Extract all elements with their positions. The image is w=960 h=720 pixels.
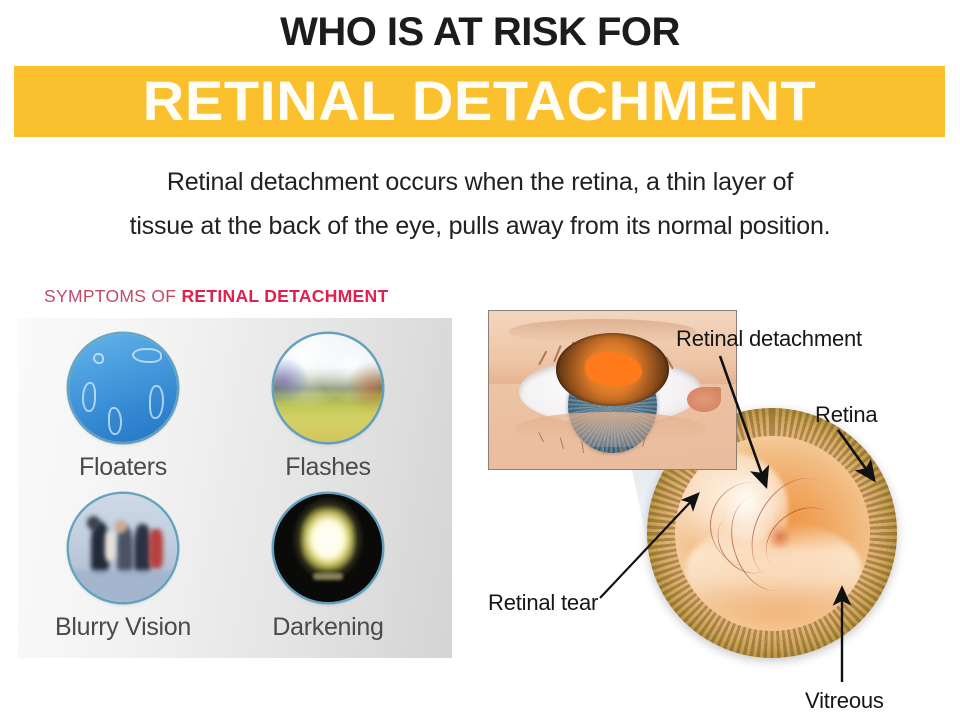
subtitle-paragraph: Retinal detachment occurs when the retin… [60,160,900,248]
symptom-label: Darkening [233,613,423,642]
subtitle-line-1: Retinal detachment occurs when the retin… [60,160,900,204]
symptom-label: Flashes [233,453,423,482]
symptom-item-darkening: Darkening [233,494,423,642]
landscape-glare-flashes-icon [274,334,382,442]
dark-vignette-light-icon [274,494,382,602]
pupil-with-tear [556,333,670,406]
symptoms-heading-emphasis: RETINAL DETACHMENT [181,286,388,306]
arrow-retinal-detachment [720,356,766,486]
symptoms-panel: Floaters Flashes Blurry Vision Darkening [18,318,452,658]
banner: RETINAL DETACHMENT [14,66,945,137]
blurred-street-scene-icon [69,494,177,602]
subtitle-line-2: tissue at the back of the eye, pulls awa… [60,204,900,248]
symptom-label: Blurry Vision [28,613,218,642]
symptom-item-blurry-vision: Blurry Vision [28,494,218,642]
symptom-item-floaters: Floaters [28,334,218,482]
symptoms-heading-prefix: SYMPTOMS OF [44,286,181,306]
arrow-retinal-tear [600,494,698,598]
symptom-label: Floaters [28,453,218,482]
callout-arrows [470,290,960,720]
symptoms-heading: SYMPTOMS OF RETINAL DETACHMENT [44,286,388,307]
page-title: WHO IS AT RISK FOR [0,6,960,58]
label-retinal-tear: Retinal tear [488,590,598,616]
symptom-item-flashes: Flashes [233,334,423,482]
retina-diagram: Retinal detachment Retina Retinal tear V… [470,290,960,720]
label-retinal-detachment: Retinal detachment [676,326,862,352]
arrow-retina [838,430,874,480]
label-retina: Retina [815,402,877,428]
label-vitreous: Vitreous [805,688,884,714]
banner-title: RETINAL DETACHMENT [0,66,959,137]
blue-sky-floaters-icon [69,334,177,442]
